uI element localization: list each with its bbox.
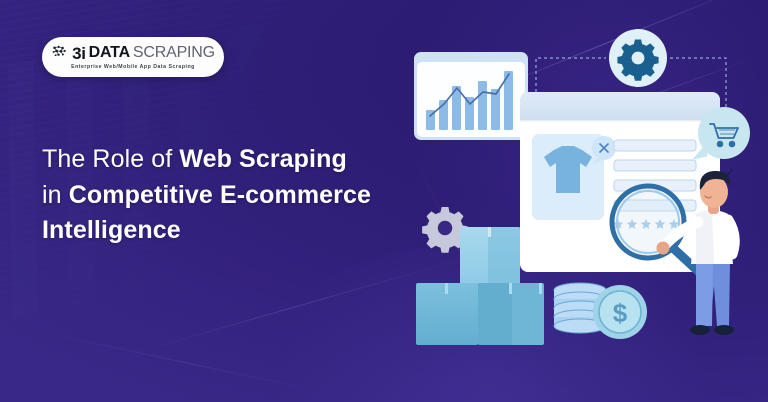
dot-network-icon	[51, 45, 68, 62]
headline-text-bold: Web Scraping	[179, 145, 346, 173]
headline-text-bold: Competitive E-commerce	[69, 181, 371, 209]
headline-line-2: in Competitive E-commerce	[42, 178, 422, 214]
headline-text-normal: The Role of	[42, 145, 179, 173]
logo-tagline: Enterprise Web/Mobile App Data Scraping	[71, 64, 195, 70]
headline-line-3: Intelligence	[42, 213, 422, 249]
blog-banner: 3i DATA SCRAPING Enterprise Web/Mobile A…	[0, 0, 768, 402]
brand-logo[interactable]: 3i DATA SCRAPING Enterprise Web/Mobile A…	[42, 37, 224, 77]
headline-text-bold: Intelligence	[42, 216, 181, 244]
logo-name-bold: DATA	[89, 45, 130, 61]
logo-name-light: SCRAPING	[133, 45, 215, 61]
hero-illustration: $	[408, 0, 768, 402]
svg-text:$: $	[613, 298, 628, 328]
settings-gear-badge	[609, 29, 667, 87]
dollar-coin: $	[593, 285, 647, 339]
logo-prefix: 3i	[72, 45, 86, 62]
analytics-chart-card	[414, 52, 528, 140]
page-title: The Role of Web Scraping in Competitive …	[42, 142, 422, 249]
headline-text-normal: in	[42, 181, 69, 209]
headline-line-1: The Role of Web Scraping	[42, 142, 422, 178]
